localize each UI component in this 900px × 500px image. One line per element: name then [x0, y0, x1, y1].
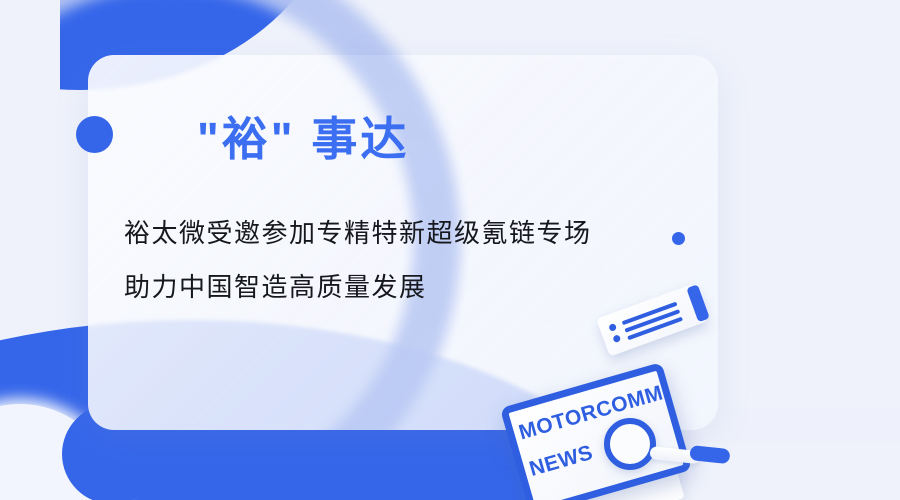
news-banner: "裕" 事达 裕太微受邀参加专精特新超级氪链专场 助力中国智造高质量发展 MOT…	[0, 0, 900, 500]
subtitle-line-2: 助力中国智造高质量发展	[124, 267, 427, 304]
page-title: "裕" 事达	[197, 103, 409, 169]
magnifier-icon	[604, 418, 734, 488]
decor-blue-dot-card-left	[76, 116, 113, 153]
decor-blue-dot-subtitle	[672, 232, 685, 245]
subtitle-line-1: 裕太微受邀参加专精特新超级氪链专场	[124, 213, 592, 250]
magnifier-lens	[604, 418, 656, 470]
